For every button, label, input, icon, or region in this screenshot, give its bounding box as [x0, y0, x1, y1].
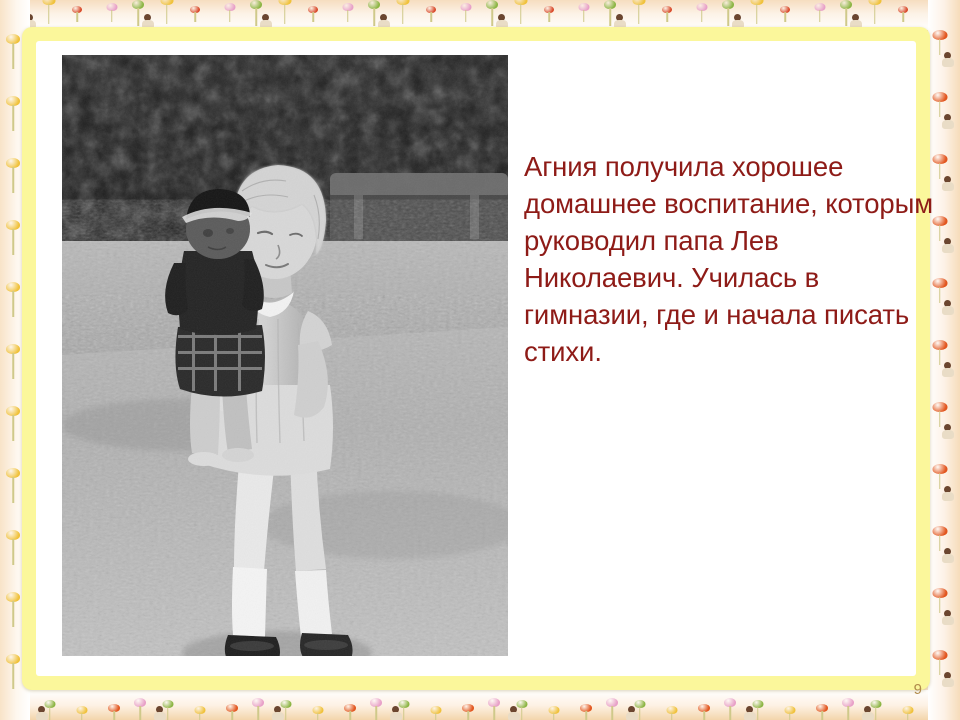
border-flower-icon	[6, 530, 20, 566]
border-flower-icon	[696, 3, 707, 23]
border-flower-icon	[724, 698, 736, 720]
border-figure-icon	[36, 706, 48, 720]
border-flower-icon	[190, 6, 200, 23]
border-figure-icon	[614, 14, 626, 28]
border-flower-icon	[6, 344, 20, 380]
border-figure-icon	[942, 548, 954, 562]
border-flower-icon	[606, 698, 618, 720]
border-figure-icon	[744, 706, 756, 720]
border-flower-icon	[462, 704, 474, 720]
border-flower-icon	[308, 6, 318, 23]
border-flower-icon	[6, 34, 20, 70]
border-flower-icon	[108, 704, 120, 720]
border-flower-icon	[278, 0, 291, 25]
border-figure-icon	[942, 114, 954, 128]
border-figure-icon	[154, 706, 166, 720]
border-flower-icon	[6, 406, 20, 442]
border-flower-icon	[344, 704, 356, 720]
border-flower-icon	[160, 0, 173, 25]
border-flower-icon	[6, 282, 20, 318]
border-flower-icon	[6, 654, 20, 690]
body-text: Агния получила хорошее домашнее воспитан…	[524, 148, 944, 370]
border-flower-icon	[578, 3, 589, 23]
border-flower-icon	[252, 698, 264, 720]
border-flower-icon	[814, 3, 825, 23]
border-flower-icon	[868, 0, 881, 25]
border-flower-icon	[42, 0, 55, 25]
border-flower-icon	[750, 0, 763, 25]
border-flower-icon	[6, 96, 20, 132]
border-figure-icon	[142, 14, 154, 28]
border-figure-icon	[942, 672, 954, 686]
border-figure-icon	[862, 706, 874, 720]
border-flower-icon	[370, 698, 382, 720]
border-flower-icon	[902, 706, 913, 720]
border-flower-icon	[898, 6, 908, 23]
border-flower-icon	[488, 698, 500, 720]
border-flower-icon	[396, 0, 409, 25]
border-figure-icon	[626, 706, 638, 720]
border-flower-icon	[816, 704, 828, 720]
border-flower-icon	[784, 706, 795, 720]
border-figure-icon	[942, 424, 954, 438]
border-figure-icon	[732, 14, 744, 28]
border-flower-icon	[460, 3, 471, 23]
border-figure-icon	[260, 14, 272, 28]
border-flower-icon	[6, 468, 20, 504]
border-flower-icon	[780, 6, 790, 23]
border-flower-icon	[6, 158, 20, 194]
border-flower-icon	[6, 220, 20, 256]
border-figure-icon	[390, 706, 402, 720]
border-flower-icon	[426, 6, 436, 23]
border-flower-icon	[548, 706, 559, 720]
border-figure-icon	[850, 14, 862, 28]
border-flower-icon	[544, 6, 554, 23]
border-figure-icon	[272, 706, 284, 720]
border-flower-icon	[224, 3, 235, 23]
border-figure-icon	[942, 486, 954, 500]
border-figure-icon	[942, 610, 954, 624]
border-flower-icon	[662, 6, 672, 23]
border-figure-icon	[496, 14, 508, 28]
photo-girl-with-doll	[62, 55, 508, 656]
border-figure-icon	[942, 52, 954, 66]
border-figure-icon	[508, 706, 520, 720]
border-flower-icon	[342, 3, 353, 23]
border-figure-icon	[378, 14, 390, 28]
border-flower-icon	[194, 706, 205, 720]
border-flower-icon	[698, 704, 710, 720]
border-band-top	[0, 0, 960, 30]
border-flower-icon	[430, 706, 441, 720]
border-flower-icon	[514, 0, 527, 25]
slide: Агния получила хорошее домашнее воспитан…	[0, 0, 960, 720]
border-flower-icon	[106, 3, 117, 23]
border-flower-icon	[842, 698, 854, 720]
border-flower-icon	[76, 706, 87, 720]
page-number: 9	[914, 681, 922, 698]
border-band-bottom	[0, 690, 960, 720]
border-flower-icon	[72, 6, 82, 23]
border-flower-icon	[6, 592, 20, 628]
border-flower-icon	[632, 0, 645, 25]
border-flower-icon	[666, 706, 677, 720]
border-flower-icon	[226, 704, 238, 720]
border-flower-icon	[134, 698, 146, 720]
border-flower-icon	[312, 706, 323, 720]
border-flower-icon	[580, 704, 592, 720]
